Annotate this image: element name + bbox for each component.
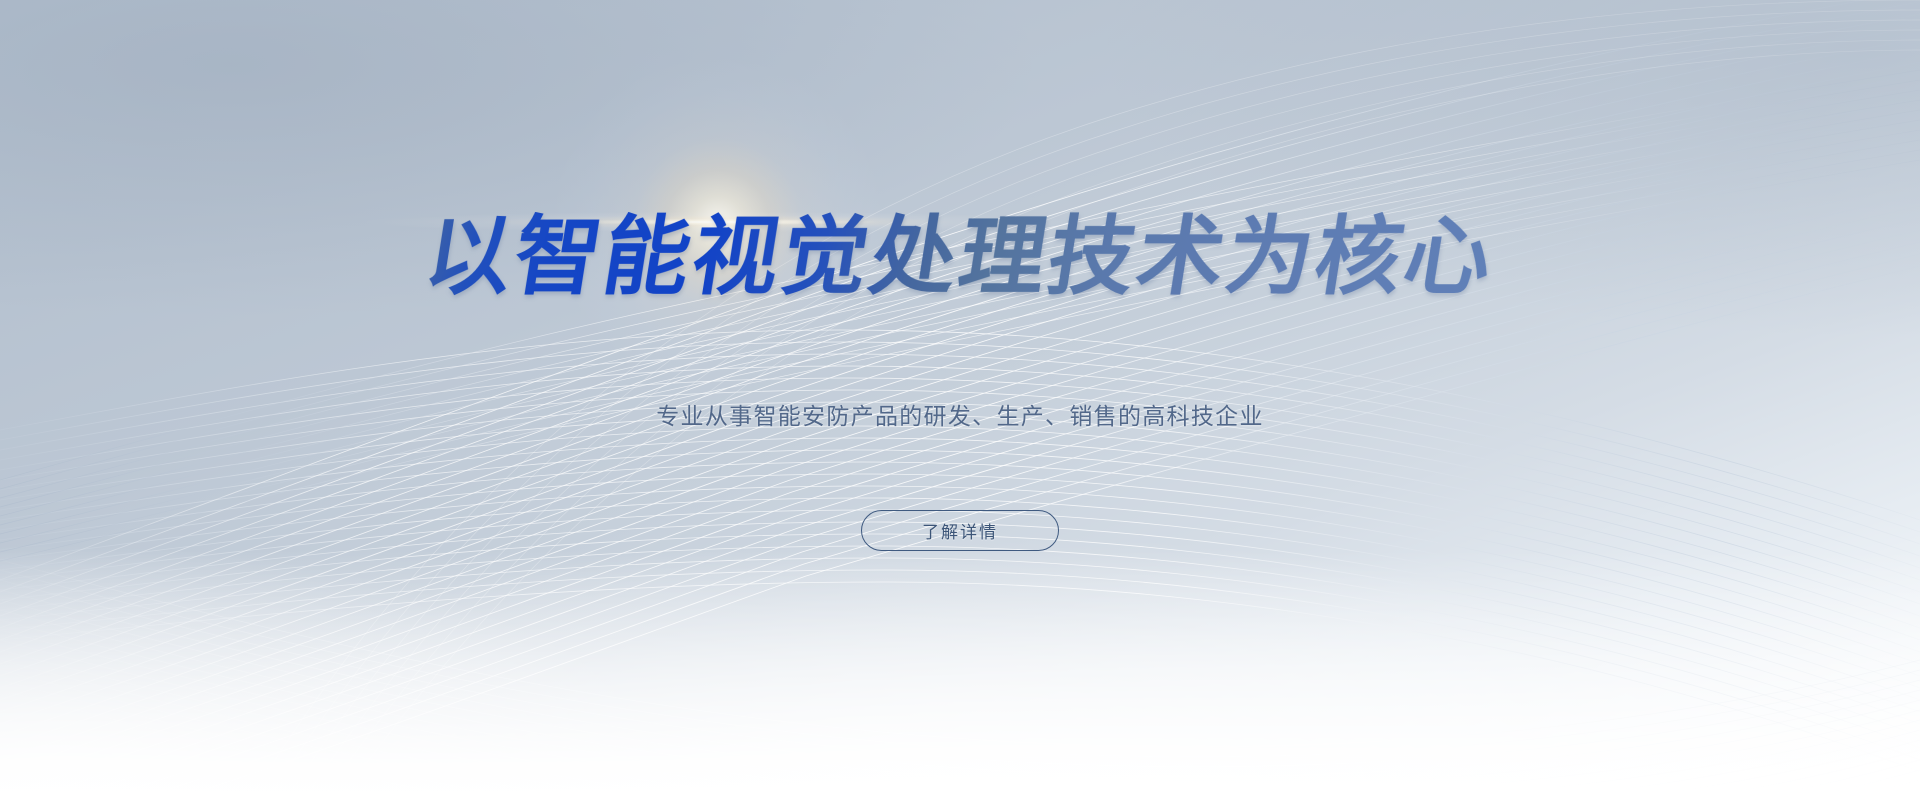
hero-banner: 以智能视觉处理技术为核心 专业从事智能安防产品的研发、生产、销售的高科技企业 了… [0,0,1920,800]
learn-more-button[interactable]: 了解详情 [861,510,1059,551]
cta-container: 了解详情 [861,510,1059,551]
flowing-wave-lines-icon [0,0,1920,800]
